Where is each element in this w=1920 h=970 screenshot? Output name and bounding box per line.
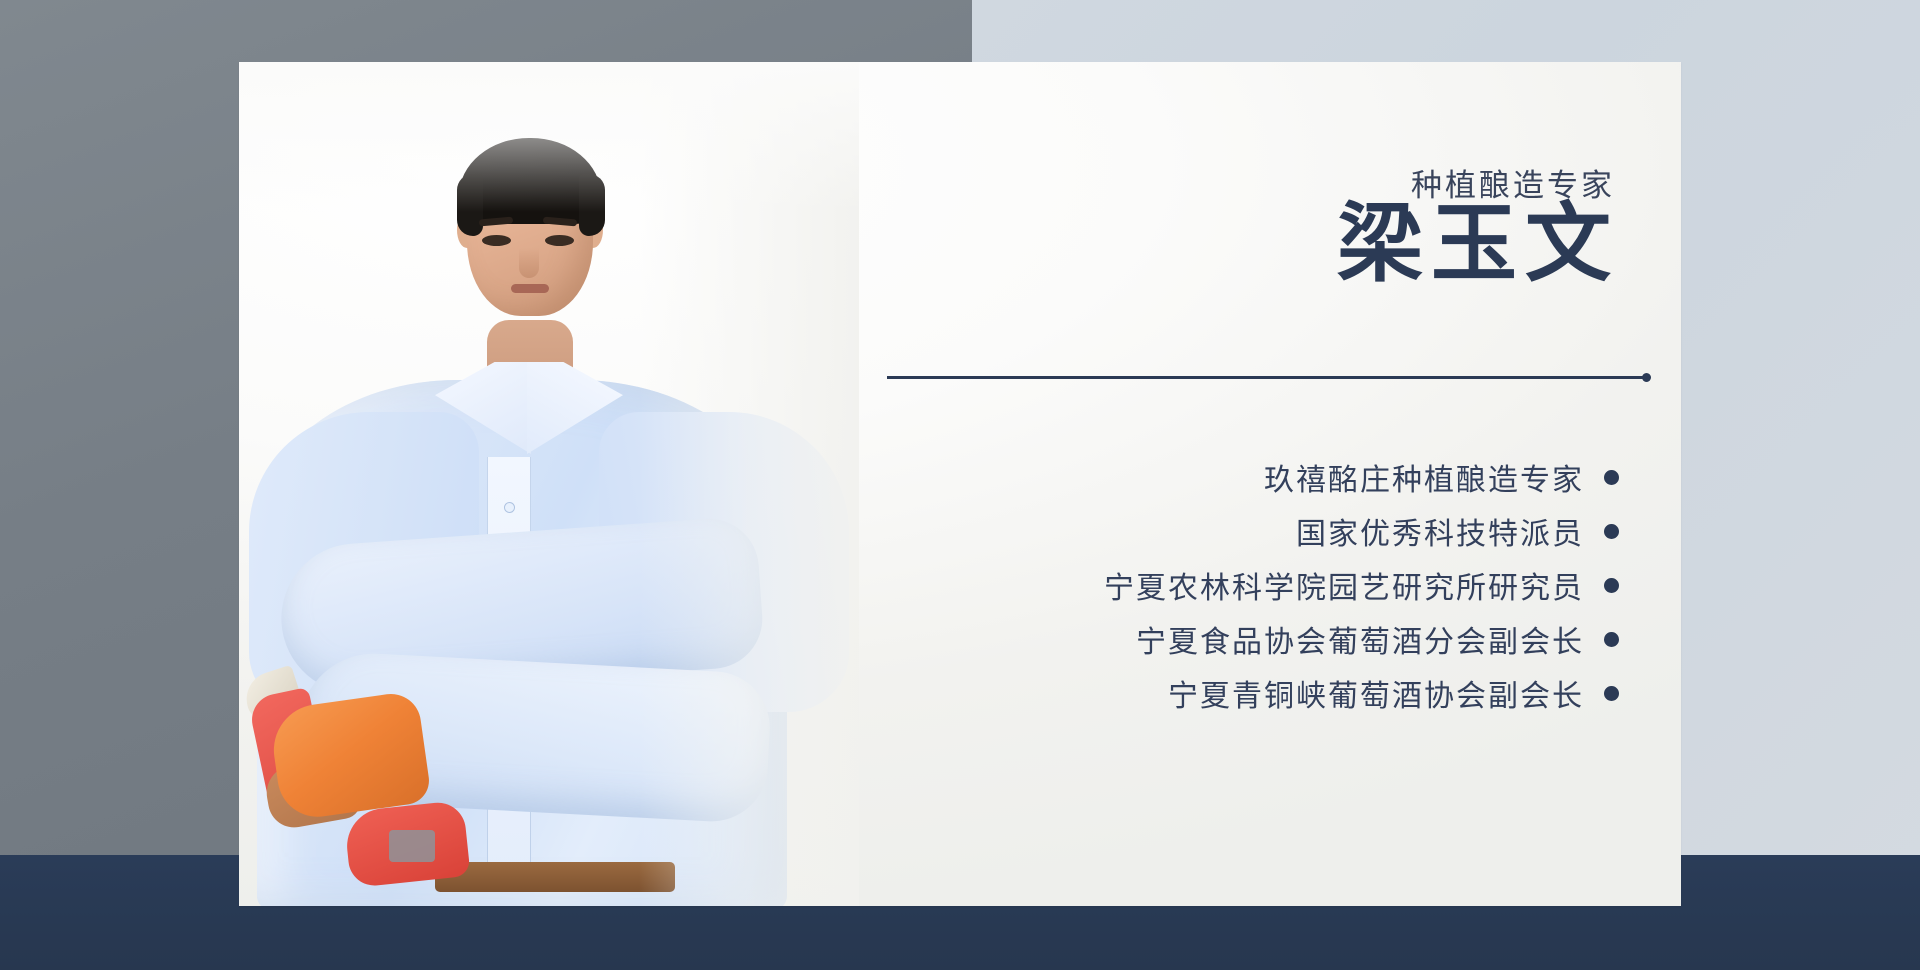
bullet-dot-icon: [1604, 524, 1619, 539]
credential-text: 宁夏食品协会葡萄酒分会副会长: [1136, 617, 1584, 661]
divider-end-dot: [1642, 373, 1651, 382]
bullet-dot-icon: [1604, 686, 1619, 701]
portrait-shirt-button: [504, 502, 515, 513]
divider-line: [887, 376, 1647, 379]
profile-card: 种植酿造专家 梁玉文 玖禧酩庄种植酿造专家 国家优秀科技特派员 宁夏农林科学院园…: [239, 62, 1681, 906]
credential-text: 宁夏农林科学院园艺研究所研究员: [1104, 563, 1584, 607]
credentials-list: 玖禧酩庄种植酿造专家 国家优秀科技特派员 宁夏农林科学院园艺研究所研究员 宁夏食…: [1104, 450, 1619, 720]
portrait-nose: [519, 248, 539, 278]
list-item: 玖禧酩庄种植酿造专家: [1104, 450, 1619, 504]
portrait-photo: [239, 62, 859, 906]
list-item: 宁夏农林科学院园艺研究所研究员: [1104, 558, 1619, 612]
bullet-dot-icon: [1604, 578, 1619, 593]
portrait-eye-left: [482, 235, 511, 246]
portrait-mouth: [511, 284, 549, 293]
credential-text: 宁夏青铜峡葡萄酒协会副会长: [1168, 671, 1584, 715]
portrait-tool-label: [389, 830, 435, 862]
credential-text: 国家优秀科技特派员: [1296, 509, 1584, 553]
list-item: 国家优秀科技特派员: [1104, 504, 1619, 558]
profile-banner: 种植酿造专家 梁玉文 玖禧酩庄种植酿造专家 国家优秀科技特派员 宁夏农林科学院园…: [0, 0, 1920, 970]
profile-info: 种植酿造专家 梁玉文 玖禧酩庄种植酿造专家 国家优秀科技特派员 宁夏农林科学院园…: [839, 62, 1681, 906]
person-name: 梁玉文: [1337, 194, 1619, 295]
bullet-dot-icon: [1604, 632, 1619, 647]
bullet-dot-icon: [1604, 470, 1619, 485]
list-item: 宁夏食品协会葡萄酒分会副会长: [1104, 612, 1619, 666]
portrait-top-fade: [239, 62, 859, 212]
portrait-eye-right: [545, 235, 574, 246]
list-item: 宁夏青铜峡葡萄酒协会副会长: [1104, 666, 1619, 720]
credential-text: 玖禧酩庄种植酿造专家: [1264, 455, 1584, 499]
